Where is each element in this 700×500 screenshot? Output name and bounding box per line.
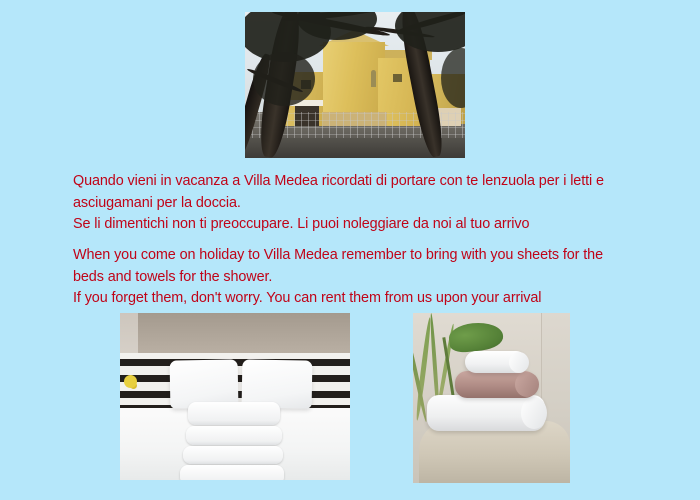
- bed-with-folded-towels-photo: [120, 313, 350, 480]
- yellow-flower-icon: [124, 375, 137, 388]
- folded-towel: [183, 446, 283, 464]
- folded-towel: [188, 402, 280, 425]
- villa-window-tall: [371, 70, 376, 87]
- villa-window-small: [393, 74, 402, 82]
- english-line-1: When you come on holiday to Villa Medea …: [73, 245, 663, 267]
- english-paragraph: When you come on holiday to Villa Medea …: [73, 245, 663, 310]
- english-line-3: If you forget them, don't worry. You can…: [73, 288, 663, 310]
- rolled-towel-mauve-end: [515, 372, 539, 397]
- folded-towel-stack: [186, 401, 284, 480]
- english-line-2: beds and towels for the shower.: [73, 267, 663, 289]
- rolled-towel-small-white-end: [509, 352, 529, 373]
- rolled-towel-large-white-end: [521, 397, 547, 429]
- slide-canvas: Quando vieni in vacanza a Villa Medea ri…: [0, 0, 700, 500]
- rolled-towels-stack-photo: [413, 313, 570, 483]
- italian-line-1: Quando vieni in vacanza a Villa Medea ri…: [73, 171, 663, 193]
- tree-foliage: [253, 52, 315, 106]
- italian-paragraph: Quando vieni in vacanza a Villa Medea ri…: [73, 171, 663, 236]
- villa-medea-exterior-photo: [245, 12, 465, 158]
- folded-towel: [180, 465, 284, 480]
- folded-towel: [186, 426, 282, 445]
- italian-line-2: asciugamani per la doccia.: [73, 193, 663, 215]
- italian-line-3: Se li dimentichi non ti preoccupare. Li …: [73, 214, 663, 236]
